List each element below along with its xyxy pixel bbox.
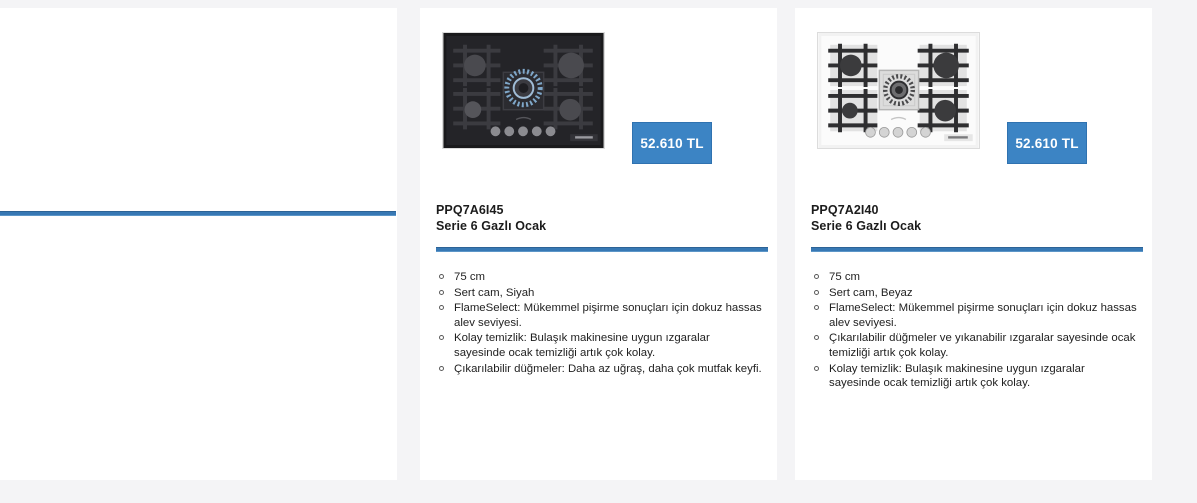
list-item: Kolay temizlik: Bulaşık makinesine uygun… <box>438 331 763 360</box>
bullet-circle-icon <box>439 274 444 279</box>
feature-list: 75 cm Sert cam, Siyah FlameSelect: Mükem… <box>420 270 777 376</box>
feature-list: 75 cm Sert cam, Beyaz FlameSelect: Mükem… <box>795 270 1152 391</box>
feature-text: Sert cam, Siyah <box>454 287 534 299</box>
feature-text: 75 cm <box>829 271 860 283</box>
product-card-partial-left[interactable] <box>0 8 397 480</box>
list-item: 75 cm <box>438 270 763 285</box>
feature-text: 75 cm <box>454 271 485 283</box>
card-divider <box>0 211 396 216</box>
card-media-row: 52.610 TL <box>795 8 1152 198</box>
feature-text: Sert cam, Beyaz <box>829 287 913 299</box>
card-divider <box>436 247 768 252</box>
bullet-circle-icon <box>814 335 819 340</box>
feature-text: Çıkarılabilir düğmeler: Daha az uğraş, d… <box>454 363 762 375</box>
card-divider <box>811 247 1143 252</box>
list-item: Sert cam, Siyah <box>438 286 763 301</box>
feature-text: Kolay temizlik: Bulaşık makinesine uygun… <box>454 332 710 359</box>
bullet-circle-icon <box>439 305 444 310</box>
price-badge[interactable]: 52.610 TL <box>632 122 712 164</box>
product-card-ppq7a2i40[interactable]: 52.610 TL PPQ7A2I40 Serie 6 Gazlı Ocak 7… <box>795 8 1152 480</box>
bullet-circle-icon <box>814 305 819 310</box>
product-series: Serie 6 Gazlı Ocak <box>436 218 777 234</box>
list-item: Çıkarılabilir düğmeler ve yıkanabilir ız… <box>813 331 1138 360</box>
bullet-circle-icon <box>439 290 444 295</box>
product-code: PPQ7A2I40 <box>811 202 1152 218</box>
card-titles: PPQ7A2I40 Serie 6 Gazlı Ocak <box>795 202 1152 234</box>
list-item: Kolay temizlik: Bulaşık makinesine uygun… <box>813 362 1138 391</box>
bullet-circle-icon <box>439 335 444 340</box>
product-comparison-grid: 52.610 TL PPQ7A6I45 Serie 6 Gazlı Ocak 7… <box>0 0 1197 503</box>
list-item: FlameSelect: Mükemmel pişirme sonuçları … <box>438 301 763 330</box>
feature-text: Çıkarılabilir düğmeler ve yıkanabilir ız… <box>829 332 1135 359</box>
card-titles: PPQ7A6I45 Serie 6 Gazlı Ocak <box>420 202 777 234</box>
feature-text: Kolay temizlik: Bulaşık makinesine uygun… <box>829 363 1085 390</box>
gas-hob-white-glass-photo[interactable] <box>817 32 980 149</box>
list-item: Sert cam, Beyaz <box>813 286 1138 301</box>
feature-text: FlameSelect: Mükemmel pişirme sonuçları … <box>454 302 762 329</box>
product-series: Serie 6 Gazlı Ocak <box>811 218 1152 234</box>
list-item: 75 cm <box>813 270 1138 285</box>
price-badge[interactable]: 52.610 TL <box>1007 122 1087 164</box>
card-media-row: 52.610 TL <box>420 8 777 198</box>
bullet-circle-icon <box>814 290 819 295</box>
list-item: Çıkarılabilir düğmeler: Daha az uğraş, d… <box>438 362 763 377</box>
list-item: FlameSelect: Mükemmel pişirme sonuçları … <box>813 301 1138 330</box>
feature-text: FlameSelect: Mükemmel pişirme sonuçları … <box>829 302 1137 329</box>
gas-hob-black-glass-photo[interactable] <box>442 32 605 149</box>
product-code: PPQ7A6I45 <box>436 202 777 218</box>
bullet-circle-icon <box>814 366 819 371</box>
bullet-circle-icon <box>814 274 819 279</box>
product-card-ppq7a6i45[interactable]: 52.610 TL PPQ7A6I45 Serie 6 Gazlı Ocak 7… <box>420 8 777 480</box>
card-media-row <box>0 8 397 198</box>
bullet-circle-icon <box>439 366 444 371</box>
